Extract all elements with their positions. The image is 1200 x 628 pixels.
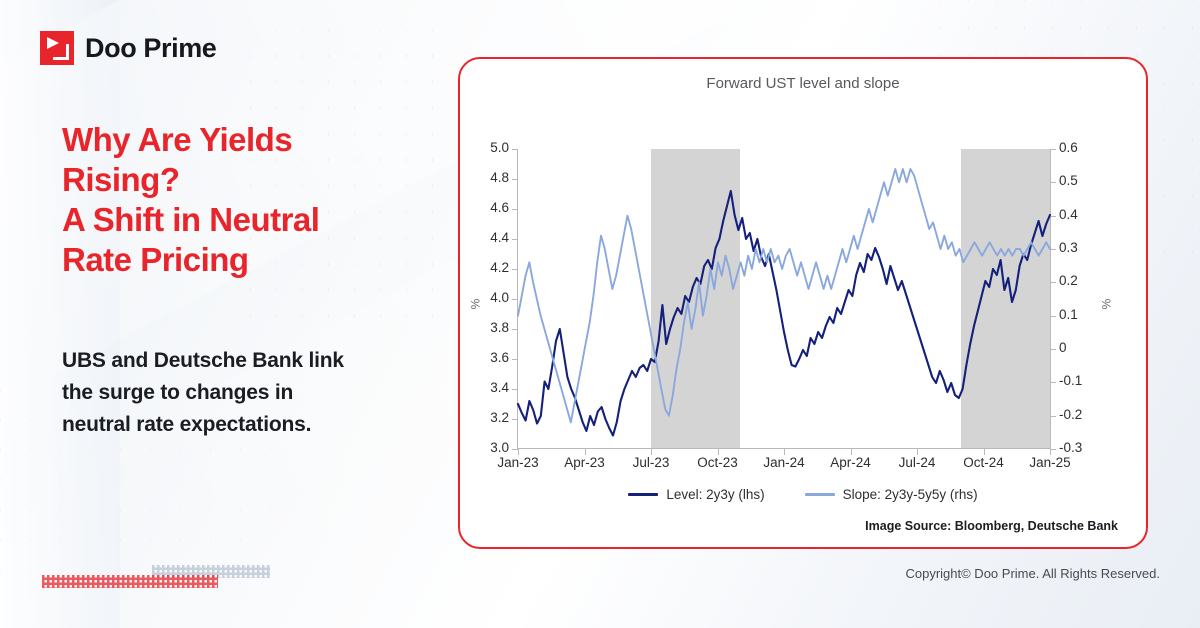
x-axis-tick: Oct-24 [963,455,1004,470]
x-axis-tick: Jul-24 [899,455,936,470]
chart-title: Forward UST level and slope [460,75,1146,92]
copyright-notice: Copyright© Doo Prime. All Rights Reserve… [905,566,1160,581]
y-axis-left-unit: % [468,299,482,310]
y-axis-left-tick: 4.4 [490,230,509,245]
y-axis-right-tick: 0.4 [1059,207,1078,222]
y-axis-left-tick: 5.0 [490,140,509,155]
legend-item[interactable]: Slope: 2y3y-5y5y (rhs) [805,487,978,502]
y-axis-right-tick: -0.2 [1059,407,1082,422]
headline-line-4: Rate Pricing [62,240,462,280]
subhead-line-3: neutral rate expectations. [62,409,432,441]
x-axis-tick-mark [718,449,719,455]
chart-plot-area: 3.03.23.43.63.84.04.24.44.64.85.0 -0.3-0… [518,149,1050,449]
series-line [518,191,1050,436]
chart-legend: Level: 2y3y (lhs)Slope: 2y3y-5y5y (rhs) [460,487,1146,502]
headline-line-2: Rising? [62,160,462,200]
doo-prime-logo-icon [40,31,74,65]
x-axis-tick-mark [1050,449,1051,455]
y-axis-left-tick: 3.8 [490,320,509,335]
x-axis-tick: Jul-23 [633,455,670,470]
chart-series-lines [518,149,1050,449]
x-axis-tick: Oct-23 [697,455,738,470]
x-axis-tick-mark [585,449,586,455]
y-axis-right-line [1050,149,1051,449]
y-axis-left-tick: 4.0 [490,290,509,305]
y-axis-right-tick: -0.3 [1059,440,1082,455]
x-axis-tick-mark [917,449,918,455]
y-axis-right-tick: 0 [1059,340,1067,355]
x-axis-tick-mark [784,449,785,455]
y-axis-left-tick: 4.8 [490,170,509,185]
y-axis-right-tick: 0.5 [1059,173,1078,188]
x-axis-tick-mark [851,449,852,455]
y-axis-left-tick: 3.0 [490,440,509,455]
page-subtitle: UBS and Deutsche Bank link the surge to … [62,345,432,441]
image-source: Image Source: Bloomberg, Deutsche Bank [865,519,1118,533]
x-axis-tick: Apr-24 [830,455,871,470]
legend-swatch [805,493,835,496]
page-title: Why Are Yields Rising? A Shift in Neutra… [62,120,462,280]
legend-item[interactable]: Level: 2y3y (lhs) [628,487,764,502]
brand-name: Doo Prime [85,33,216,64]
y-axis-right-tick: -0.1 [1059,373,1082,388]
y-axis-right-tick: 0.1 [1059,307,1078,322]
y-axis-right-unit: % [1100,299,1114,310]
x-axis-tick: Jan-24 [763,455,804,470]
y-axis-left-tick: 4.6 [490,200,509,215]
x-axis-tick-mark [651,449,652,455]
x-axis-tick: Jan-23 [497,455,538,470]
y-axis-right-tick: 0.3 [1059,240,1078,255]
checker-pattern [42,575,218,588]
chart-card: Forward UST level and slope 3.03.23.43.6… [458,57,1148,549]
y-axis-left-tick: 4.2 [490,260,509,275]
series-line [518,169,1050,422]
headline-line-1: Why Are Yields [62,120,462,160]
y-axis-left-tick: 3.4 [490,380,509,395]
subhead-line-2: the surge to changes in [62,377,432,409]
legend-swatch [628,493,658,496]
y-axis-right-tick: 0.6 [1059,140,1078,155]
subhead-line-1: UBS and Deutsche Bank link [62,345,432,377]
headline-line-3: A Shift in Neutral [62,200,462,240]
legend-label: Slope: 2y3y-5y5y (rhs) [843,487,978,502]
x-axis-tick-mark [984,449,985,455]
x-axis-tick-mark [518,449,519,455]
y-axis-left-tick: 3.2 [490,410,509,425]
legend-label: Level: 2y3y (lhs) [666,487,764,502]
decorative-pattern-bar [40,565,270,589]
y-axis-left-tick: 3.6 [490,350,509,365]
x-axis-tick: Jan-25 [1029,455,1070,470]
y-axis-right-tick: 0.2 [1059,273,1078,288]
x-axis-tick: Apr-23 [564,455,605,470]
brand-logo: Doo Prime [40,31,216,65]
